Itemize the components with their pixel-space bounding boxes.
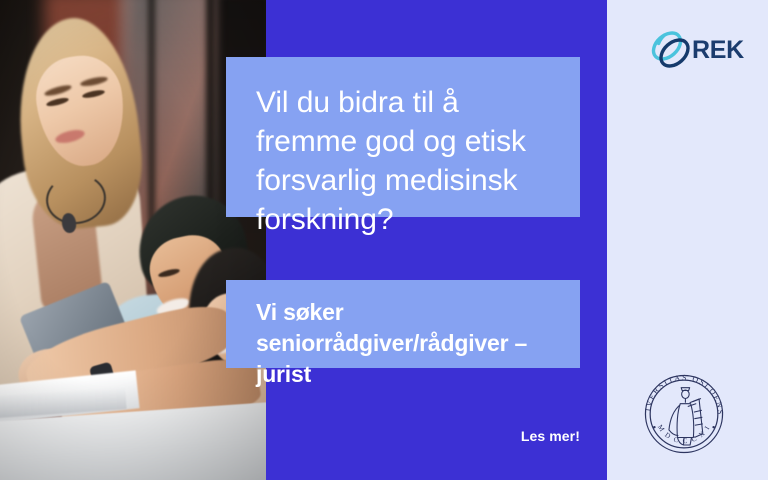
rek-logo[interactable]: REK <box>648 27 743 73</box>
rek-wordmark: REK <box>692 36 744 65</box>
headline-text: Vil du bidra til å fremme god og etisk f… <box>256 83 550 239</box>
read-more-link[interactable]: Les mer! <box>0 428 580 444</box>
job-title-box: Vi søker seniorrådgiver/rådgiver – juris… <box>226 280 580 368</box>
headline-box: Vil du bidra til å fremme god og etisk f… <box>226 57 580 217</box>
job-title-text: Vi søker seniorrådgiver/rådgiver – juris… <box>256 297 550 390</box>
seal-top-legend: UNIVERSITAS OSLOENSIS <box>637 367 725 416</box>
seal-dot-left <box>653 426 655 428</box>
uio-seal[interactable]: UNIVERSITAS OSLOENSIS M D C C C X I <box>637 367 731 461</box>
seal-dot-right <box>712 426 714 428</box>
recruitment-banner: Vil du bidra til å fremme god og etisk f… <box>0 0 768 480</box>
interlocking-rings-icon <box>648 27 694 73</box>
